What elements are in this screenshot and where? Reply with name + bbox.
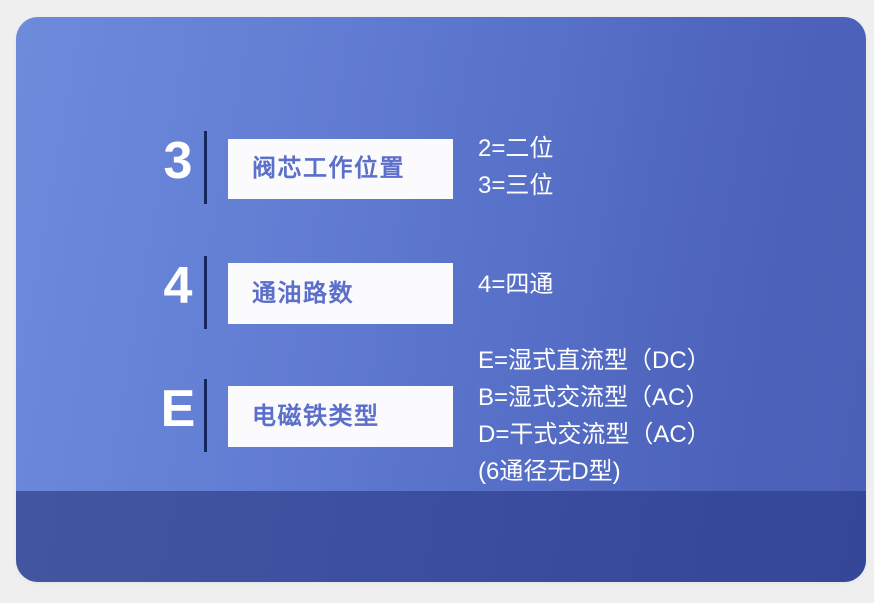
card-bottom-band	[16, 491, 866, 582]
label-text-2: 通油路数	[252, 282, 354, 306]
description-line: 3=三位	[478, 167, 553, 204]
code-character-1: 3	[150, 135, 206, 187]
code-character-2: 4	[150, 260, 206, 312]
description-line: B=湿式交流型（AC）	[478, 379, 711, 416]
row-divider-3	[204, 379, 207, 452]
label-text-3: 电磁铁类型	[252, 405, 380, 429]
description-line: D=干式交流型（AC）	[478, 416, 711, 453]
description-3: E=湿式直流型（DC） B=湿式交流型（AC） D=干式交流型（AC） (6通径…	[478, 342, 711, 490]
row-divider-2	[204, 256, 207, 329]
description-line: E=湿式直流型（DC）	[478, 342, 711, 379]
description-line: 4=四通	[478, 266, 553, 303]
label-box-3: 电磁铁类型	[228, 386, 453, 447]
code-character-3: E	[150, 383, 206, 435]
description-2: 4=四通	[478, 266, 553, 303]
row-divider-1	[204, 131, 207, 204]
description-1: 2=二位 3=三位	[478, 130, 553, 204]
legend-card: 3 阀芯工作位置 2=二位 3=三位 4 通油路数 4=四通 E	[16, 17, 866, 582]
label-box-1: 阀芯工作位置	[228, 139, 453, 199]
label-box-2: 通油路数	[228, 263, 453, 324]
description-line: 2=二位	[478, 130, 553, 167]
description-line: (6通径无D型)	[478, 453, 711, 490]
model-code-legend: 3 阀芯工作位置 2=二位 3=三位 4 通油路数 4=四通 E	[0, 0, 874, 603]
label-text-1: 阀芯工作位置	[252, 157, 405, 181]
